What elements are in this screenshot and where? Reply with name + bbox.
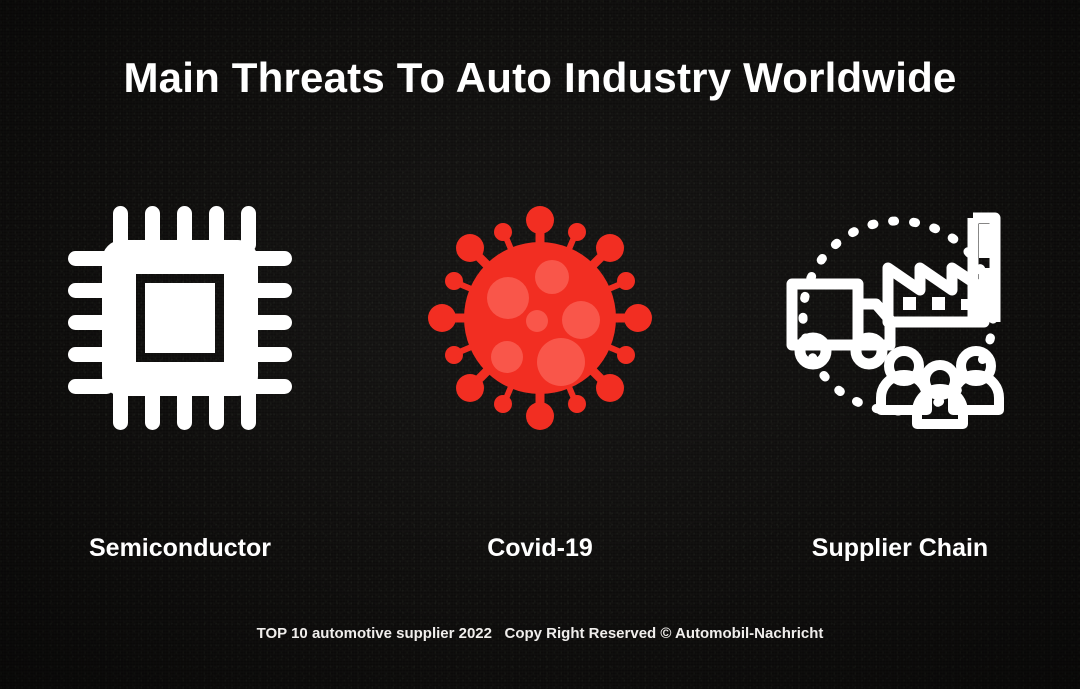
virus-icon	[415, 193, 665, 443]
footer-credit: TOP 10 automotive supplier 2022 Copy Rig…	[0, 625, 1080, 642]
threat-label-covid: Covid-19	[487, 534, 593, 563]
page-title: Main Threats To Auto Industry Worldwide	[0, 54, 1080, 102]
threat-card-semiconductor: Semiconductor	[0, 185, 360, 563]
threat-card-covid: Covid-19	[360, 185, 720, 563]
virus-icon-wrap	[415, 185, 665, 450]
threat-card-supplier-chain: Supplier Chain	[720, 185, 1080, 563]
supply-chain-icon	[780, 198, 1020, 438]
threat-label-semiconductor: Semiconductor	[89, 534, 271, 563]
supply-chain-icon-wrap	[780, 185, 1020, 450]
threat-label-supplier-chain: Supplier Chain	[812, 534, 988, 563]
slide-canvas: Main Threats To Auto Industry Worldwide	[0, 0, 1080, 689]
microchip-icon	[60, 198, 300, 438]
microchip-icon-wrap	[60, 185, 300, 450]
threats-row: Semiconductor	[0, 185, 1080, 563]
